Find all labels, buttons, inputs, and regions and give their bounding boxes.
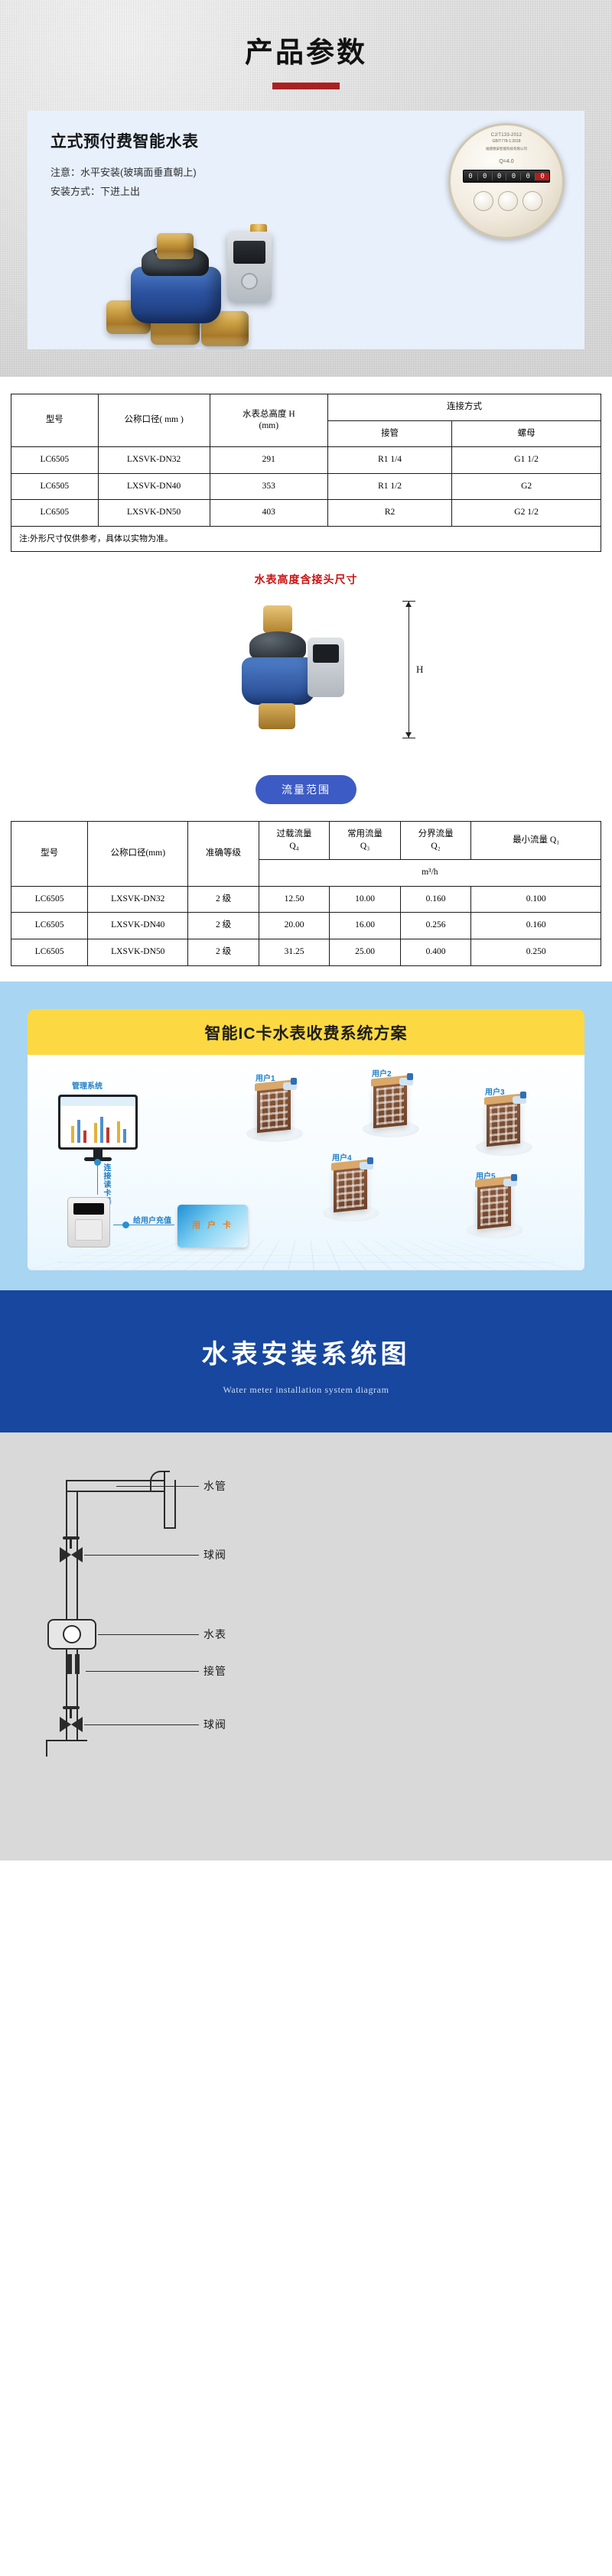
cell-model: LC6505 xyxy=(11,473,99,500)
th-caliber: 公称口径( mm ) xyxy=(98,394,210,447)
pipe-segment xyxy=(46,1740,47,1757)
monitor-screen xyxy=(60,1097,135,1147)
th-boundary: 分界流量 Q₂ xyxy=(400,822,471,860)
label-water-pipe: 水管 xyxy=(203,1478,226,1494)
meter-lcd-module xyxy=(227,232,272,302)
hero-card: 立式预付费智能水表 注意：水平安装(玻璃面垂直朝上) 安装方式：下进上出 CJ/… xyxy=(28,111,584,349)
cell-pipe: R2 xyxy=(327,500,451,527)
flow-table-wrap: 型号 公称口径(mm) 准确等级 过载流量 Q₄ 常用流量 Q₃ 分界流量 Q₂ xyxy=(0,821,612,965)
pipe-segment xyxy=(66,1480,164,1481)
pipe-segment xyxy=(46,1740,87,1741)
dial-digit: 0 xyxy=(535,173,549,180)
install-header: 水表安装系统图 Water meter installation system … xyxy=(0,1290,612,1432)
install-note-1: 注意：水平安装(玻璃面垂直朝上) xyxy=(50,164,280,183)
piping-diagram: 球阀 水管 水表 接管 球阀 xyxy=(0,1432,612,1861)
cell-caliber: LXSVK-DN40 xyxy=(88,913,188,939)
product-name: 立式预付费智能水表 xyxy=(50,132,280,151)
leader-line xyxy=(84,1724,199,1725)
dial-digit: 0 xyxy=(506,173,521,180)
dial-q-value: Q=4.0 xyxy=(451,159,562,164)
card-reader-icon xyxy=(67,1197,110,1247)
meter-lcd-module xyxy=(308,638,344,697)
dial-code: GB/T778-1:2018 xyxy=(451,139,562,144)
mini-dial-icon xyxy=(474,191,493,211)
table-row: LC6505 LXSVK-DN50 2 级 31.25 25.00 0.400 … xyxy=(11,939,601,966)
leader-line xyxy=(116,1486,199,1487)
ic-system-banner: 智能IC卡水表收费系统方案 xyxy=(28,1009,584,1055)
label-ball-valve-bottom: 球阀 xyxy=(203,1717,226,1732)
cell-nut: G2 xyxy=(452,473,601,500)
flow-range-badge: 流量范围 xyxy=(256,775,356,804)
cell-q2: 0.400 xyxy=(400,939,471,966)
cell-pipe: R1 1/4 xyxy=(327,447,451,474)
dimension-tick xyxy=(402,738,415,738)
cell-height: 291 xyxy=(210,447,327,474)
table-note-row: 注:外形尺寸仅供参考，具体以实物为准。 xyxy=(11,526,601,552)
th-height: 水表总高度 H (mm) xyxy=(210,394,327,447)
cell-q4: 12.50 xyxy=(259,886,330,913)
th-minimum: 最小流量 Q₁ xyxy=(471,822,601,860)
tap-icon xyxy=(356,1157,376,1174)
cell-model: LC6505 xyxy=(11,886,88,913)
cell-q4: 31.25 xyxy=(259,939,330,966)
cell-model: LC6505 xyxy=(11,447,99,474)
arrow-down-icon xyxy=(405,732,412,738)
pipe-elbow xyxy=(150,1471,170,1491)
piping-sheet: 球阀 水管 水表 接管 球阀 xyxy=(0,1432,612,1861)
user-card-text: 用 户 卡 xyxy=(177,1218,248,1231)
th-model: 型号 xyxy=(11,394,99,447)
meter-cap xyxy=(249,631,306,659)
dial-digit: 0 xyxy=(478,173,493,180)
cell-q3: 10.00 xyxy=(330,886,401,913)
cell-nut: G2 1/2 xyxy=(452,500,601,527)
leader-line xyxy=(86,1671,199,1672)
arrow-up-icon xyxy=(405,602,412,607)
dial-standard: CJ/T133-2012 xyxy=(451,133,562,138)
cell-grade: 2 级 xyxy=(188,939,259,966)
ball-valve-icon xyxy=(60,1717,83,1732)
table-note: 注:外形尺寸仅供参考，具体以实物为准。 xyxy=(11,526,601,552)
table-header-row: 型号 公称口径( mm ) 水表总高度 H (mm) 连接方式 xyxy=(11,394,601,421)
cell-q3: 16.00 xyxy=(330,913,401,939)
cell-nut: G1 1/2 xyxy=(452,447,601,474)
cell-grade: 2 级 xyxy=(188,913,259,939)
dial-sub-dials xyxy=(472,190,541,228)
table-row: LC6505 LXSVK-DN32 291 R1 1/4 G1 1/2 xyxy=(11,447,601,474)
table-row: LC6505 LXSVK-DN40 353 R1 1/2 G2 xyxy=(11,473,601,500)
cell-q3: 25.00 xyxy=(330,939,401,966)
management-monitor-icon xyxy=(58,1095,138,1150)
th-nut: 螺母 xyxy=(452,420,601,447)
tap-icon xyxy=(396,1073,416,1090)
th-height-unit: (mm) xyxy=(259,421,279,430)
th-unit: m³/h xyxy=(259,860,601,887)
th-caliber: 公称口径(mm) xyxy=(88,822,188,887)
connector-flange xyxy=(67,1654,72,1674)
th-overload-symbol: Q₄ xyxy=(289,842,298,851)
height-dimension-line: H xyxy=(398,601,428,738)
th-connection: 连接方式 xyxy=(327,394,601,421)
pipe-segment xyxy=(164,1471,165,1527)
brass-bottom-icon xyxy=(259,703,295,729)
th-normal-label: 常用流量 xyxy=(347,829,382,839)
cell-model: LC6505 xyxy=(11,913,88,939)
cell-q4: 20.00 xyxy=(259,913,330,939)
dimension-table-body: LC6505 LXSVK-DN32 291 R1 1/4 G1 1/2 LC65… xyxy=(11,447,601,552)
th-normal-symbol: Q₃ xyxy=(360,842,369,851)
th-overload-label: 过载流量 xyxy=(277,829,312,839)
brass-top-icon xyxy=(263,605,292,633)
spec-table-wrap: 型号 公称口径( mm ) 水表总高度 H (mm) 连接方式 接管 螺母 LC… xyxy=(0,377,612,552)
cell-q2: 0.256 xyxy=(400,913,471,939)
label-connector: 接管 xyxy=(203,1663,226,1679)
cell-caliber: LXSVK-DN40 xyxy=(98,473,210,500)
cell-height: 403 xyxy=(210,500,327,527)
mini-dial-icon xyxy=(498,191,518,211)
reader-display xyxy=(73,1203,104,1215)
flow-badge-row: 流量范围 xyxy=(0,752,612,821)
tap-icon xyxy=(509,1092,529,1108)
height-diagram-meter xyxy=(214,598,367,743)
height-caption: 水表高度含接头尺寸 xyxy=(0,552,612,592)
title-underline xyxy=(272,83,340,89)
dial-register: 0 0 0 0 0 0 xyxy=(463,170,550,183)
dial-digit: 0 xyxy=(493,173,507,180)
meter-dial-icon xyxy=(63,1625,81,1643)
connector-dot xyxy=(122,1221,129,1228)
brass-fitting-icon xyxy=(157,233,194,259)
label-water-meter: 水表 xyxy=(203,1627,226,1642)
product-spec-page: 产品参数 立式预付费智能水表 注意：水平安装(玻璃面垂直朝上) 安装方式：下进上… xyxy=(0,0,612,1861)
table-row: LC6505 LXSVK-DN40 2 级 20.00 16.00 0.256 … xyxy=(11,913,601,939)
pipe-segment xyxy=(66,1480,67,1510)
flow-table: 型号 公称口径(mm) 准确等级 过载流量 Q₄ 常用流量 Q₃ 分界流量 Q₂ xyxy=(11,821,601,965)
dimension-line xyxy=(409,601,409,738)
tap-icon xyxy=(500,1174,520,1191)
tap-icon xyxy=(280,1078,300,1095)
user-card-icon: 用 户 卡 xyxy=(177,1205,248,1247)
th-model: 型号 xyxy=(11,822,88,887)
pipe-segment xyxy=(66,1491,164,1492)
th-grade: 准确等级 xyxy=(188,822,259,887)
cell-grade: 2 级 xyxy=(188,886,259,913)
cell-q1: 0.160 xyxy=(471,913,601,939)
th-boundary-symbol: Q₂ xyxy=(431,842,440,851)
th-boundary-label: 分界流量 xyxy=(418,829,454,839)
label-recharge: 给用户充值 xyxy=(133,1214,171,1225)
th-overload: 过载流量 Q₄ xyxy=(259,822,330,860)
th-normal: 常用流量 Q₃ xyxy=(330,822,401,860)
page-title: 产品参数 xyxy=(0,0,612,70)
hero-band: 产品参数 立式预付费智能水表 注意：水平安装(玻璃面垂直朝上) 安装方式：下进上… xyxy=(0,0,612,377)
dial-digit: 0 xyxy=(464,173,478,180)
flow-table-body: LC6505 LXSVK-DN32 2 级 12.50 10.00 0.160 … xyxy=(11,886,601,965)
height-diagram: H xyxy=(0,592,612,752)
mini-dial-icon xyxy=(522,191,542,211)
table-row: LC6505 LXSVK-DN50 403 R2 G2 1/2 xyxy=(11,500,601,527)
label-ball-valve-top: 球阀 xyxy=(203,1547,226,1562)
cell-caliber: LXSVK-DN32 xyxy=(98,447,210,474)
product-photo xyxy=(100,185,322,349)
install-title-zh: 水表安装系统图 xyxy=(0,1333,612,1371)
th-pipe: 接管 xyxy=(327,420,451,447)
connector-line xyxy=(97,1166,98,1195)
cell-caliber: LXSVK-DN50 xyxy=(98,500,210,527)
monitor-stand xyxy=(93,1150,103,1157)
dial-digit: 0 xyxy=(521,173,535,180)
ball-valve-icon xyxy=(60,1547,83,1562)
water-meter-symbol xyxy=(47,1619,96,1650)
cell-pipe: R1 1/2 xyxy=(327,473,451,500)
th-height-label: 水表总高度 H xyxy=(243,410,295,419)
meter-body xyxy=(242,657,315,705)
cell-caliber: LXSVK-DN32 xyxy=(88,886,188,913)
connector-flange xyxy=(75,1654,80,1674)
dimension-table: 型号 公称口径( mm ) 水表总高度 H (mm) 连接方式 接管 螺母 LC… xyxy=(11,394,601,552)
label-management-system: 管理系统 xyxy=(72,1079,103,1091)
ic-system-block: 智能IC卡水表收费系统方案 管理系统 连接读卡器 xyxy=(0,981,612,1290)
pipe-segment xyxy=(164,1527,176,1529)
reader-card-pad xyxy=(75,1219,103,1241)
cell-caliber: LXSVK-DN50 xyxy=(88,939,188,966)
dial-magnifier: CJ/T133-2012 GB/T778-1:2018 福建德安智能科技有限公司… xyxy=(448,123,565,239)
cell-q2: 0.160 xyxy=(400,886,471,913)
table-header-row: 型号 公称口径(mm) 准确等级 过载流量 Q₄ 常用流量 Q₃ 分界流量 Q₂ xyxy=(11,822,601,860)
install-title-en: Water meter installation system diagram xyxy=(0,1384,612,1396)
leader-line xyxy=(84,1555,199,1556)
cell-model: LC6505 xyxy=(11,500,99,527)
cell-height: 353 xyxy=(210,473,327,500)
cell-q1: 0.250 xyxy=(471,939,601,966)
dimension-label: H xyxy=(416,663,423,676)
pipe-segment xyxy=(174,1480,176,1527)
leader-line xyxy=(98,1634,199,1635)
ic-system-diagram: 管理系统 连接读卡器 xyxy=(28,1055,584,1270)
table-row: LC6505 LXSVK-DN32 2 级 12.50 10.00 0.160 … xyxy=(11,886,601,913)
cell-model: LC6505 xyxy=(11,939,88,966)
pipe-segment xyxy=(76,1491,78,1510)
cell-q1: 0.100 xyxy=(471,886,601,913)
dial-brand: 福建德安智能科技有限公司 xyxy=(451,147,562,151)
